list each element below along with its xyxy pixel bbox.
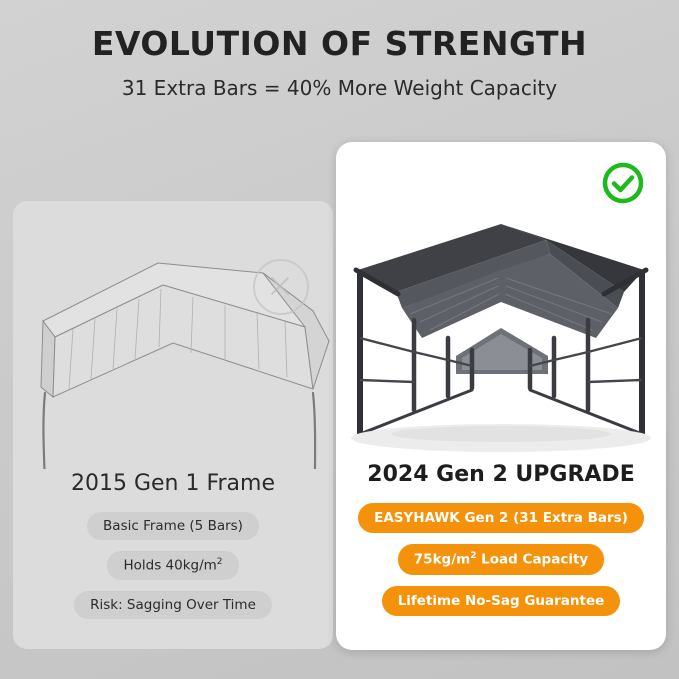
header: EVOLUTION OF STRENGTH 31 Extra Bars = 40… (0, 0, 679, 100)
gen2-image (336, 142, 666, 460)
infographic-page: EVOLUTION OF STRENGTH 31 Extra Bars = 40… (0, 0, 679, 679)
x-circle-icon (253, 259, 309, 315)
gen2-chip-load-prefix: 75kg/m (414, 552, 470, 568)
page-subtitle: 31 Extra Bars = 40% More Weight Capacity (0, 76, 679, 100)
green-check-icon (602, 162, 644, 204)
panel-gen1: 2015 Gen 1 Frame Basic Frame (5 Bars) Ho… (13, 201, 333, 649)
gen1-caption: 2015 Gen 1 Frame (13, 471, 333, 496)
gen2-chip-load: 75kg/m2 Load Capacity (398, 544, 604, 575)
gen1-chip-list: Basic Frame (5 Bars) Holds 40kg/m2 Risk:… (13, 512, 333, 619)
gen1-chip-load-text: Holds 40kg/m (123, 558, 216, 574)
gen1-chip-load-unit: 2 (217, 557, 223, 567)
gen2-caption: 2024 Gen 2 UPGRADE (336, 462, 666, 487)
panel-gen2: 2024 Gen 2 UPGRADE EASYHAWK Gen 2 (31 Ex… (336, 142, 666, 650)
comparison-panels: 2015 Gen 1 Frame Basic Frame (5 Bars) Ho… (0, 142, 679, 662)
gen2-chip-brand: EASYHAWK Gen 2 (31 Extra Bars) (358, 503, 644, 533)
gen2-chip-load-suffix: Load Capacity (476, 552, 588, 568)
gen1-image (13, 201, 333, 469)
gen1-chip-load: Holds 40kg/m2 (107, 551, 238, 580)
page-title: EVOLUTION OF STRENGTH (0, 26, 679, 62)
gen1-chip-risk: Risk: Sagging Over Time (74, 591, 272, 619)
gen2-chip-guarantee: Lifetime No-Sag Guarantee (382, 586, 621, 616)
collapsed-carport-illustration (13, 201, 333, 469)
gen2-chip-list: EASYHAWK Gen 2 (31 Extra Bars) 75kg/m2 L… (336, 503, 666, 616)
gen1-chip-frame: Basic Frame (5 Bars) (87, 512, 259, 540)
